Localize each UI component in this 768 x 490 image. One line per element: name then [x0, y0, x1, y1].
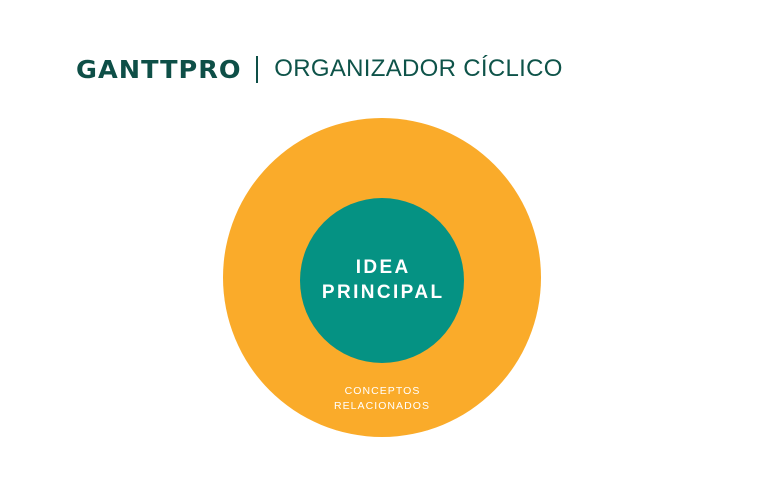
inner-circle[interactable]: IDEA PRINCIPAL [300, 198, 464, 363]
inner-label-line-1: IDEA [353, 256, 410, 281]
outer-label-line-1: CONCEPTOS [345, 385, 421, 397]
outer-circle-label: CONCEPTOS RELACIONADOS [223, 384, 541, 414]
inner-label-line-2: PRINCIPAL [320, 281, 445, 306]
page-title: ORGANIZADOR CÍCLICO [274, 57, 562, 81]
header-divider [256, 56, 258, 83]
outer-label-line-2: RELACIONADOS [334, 400, 430, 412]
slide-canvas: GANTTPRO ORGANIZADOR CÍCLICO CONCEPTOS R… [0, 0, 768, 490]
cyclic-organizer-diagram: CONCEPTOS RELACIONADOS IDEA PRINCIPAL [223, 118, 541, 437]
ganttpro-logo[interactable]: GANTTPRO [76, 57, 242, 82]
header: GANTTPRO ORGANIZADOR CÍCLICO [76, 52, 563, 86]
inner-circle-label: IDEA PRINCIPAL [300, 198, 464, 363]
